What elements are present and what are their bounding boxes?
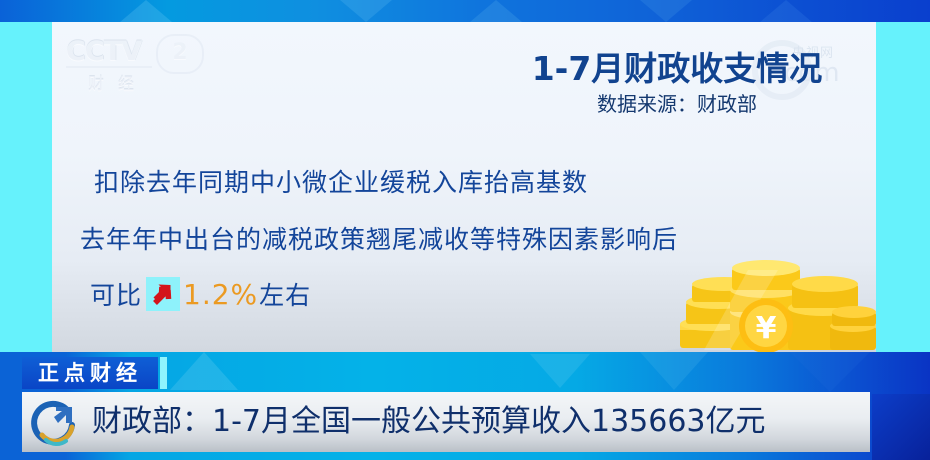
- lower-third-banner: 正点财经 财政部：1-7月全国一般公共预算收入135663亿元: [0, 352, 930, 460]
- cctv-channel-number: 2: [156, 34, 204, 74]
- decor-triangle: [640, 0, 692, 22]
- cctv-logo-underline: [66, 66, 152, 68]
- cctv-logo-text: CCTV: [66, 36, 141, 67]
- decor-triangle: [530, 354, 590, 388]
- decor-triangle: [470, 0, 522, 22]
- ticker-headline: 财政部：1-7月全国一般公共预算收入135663亿元: [92, 392, 766, 452]
- gold-coin-stack-graphic: ¥: [652, 250, 876, 352]
- decor-triangle: [170, 352, 238, 390]
- banner-right-block: [872, 394, 930, 460]
- top-decorative-strip: [0, 0, 930, 22]
- decor-triangle: [640, 352, 708, 390]
- content-panel: CCTV 2 财经 央视网 com 1-7月财政收支情况 数据来源：财政部 扣除…: [52, 22, 876, 352]
- news-ticker-bar: 财政部：1-7月全国一般公共预算收入135663亿元: [22, 392, 870, 452]
- left-cyan-band: [0, 22, 52, 352]
- cctv-finance-ring-icon: [28, 397, 80, 449]
- program-tag: 正点财经: [22, 357, 158, 389]
- decor-triangle: [340, 0, 392, 22]
- body-line-3-suffix: 左右: [259, 276, 311, 312]
- body-line-1: 扣除去年同期中小微企业缓税入库抬高基数: [94, 163, 588, 199]
- cctv-logo-subtitle: 财经: [88, 70, 148, 94]
- body-line-3: 可比 1.2% 左右: [90, 276, 311, 312]
- body-line-3-prefix: 可比: [90, 276, 142, 312]
- broadcast-screen: CCTV 2 财经 央视网 com 1-7月财政收支情况 数据来源：财政部 扣除…: [0, 0, 930, 460]
- decor-triangle: [790, 352, 870, 392]
- data-source-label: 数据来源：财政部: [507, 88, 847, 117]
- growth-value: 1.2%: [183, 278, 258, 311]
- right-cyan-band: [876, 22, 930, 352]
- body-line-2: 去年年中出台的减税政策翘尾减收等特殊因素影响后: [80, 220, 678, 256]
- decor-triangle: [120, 0, 172, 22]
- yen-symbol: ¥: [756, 311, 777, 346]
- cctv2-logo: CCTV 2 财经: [60, 34, 210, 96]
- arrow-up-right-icon: [146, 277, 180, 311]
- page-title: 1-7月财政收支情况: [507, 42, 847, 90]
- decor-triangle: [760, 0, 812, 22]
- program-tag-cap: [160, 357, 167, 389]
